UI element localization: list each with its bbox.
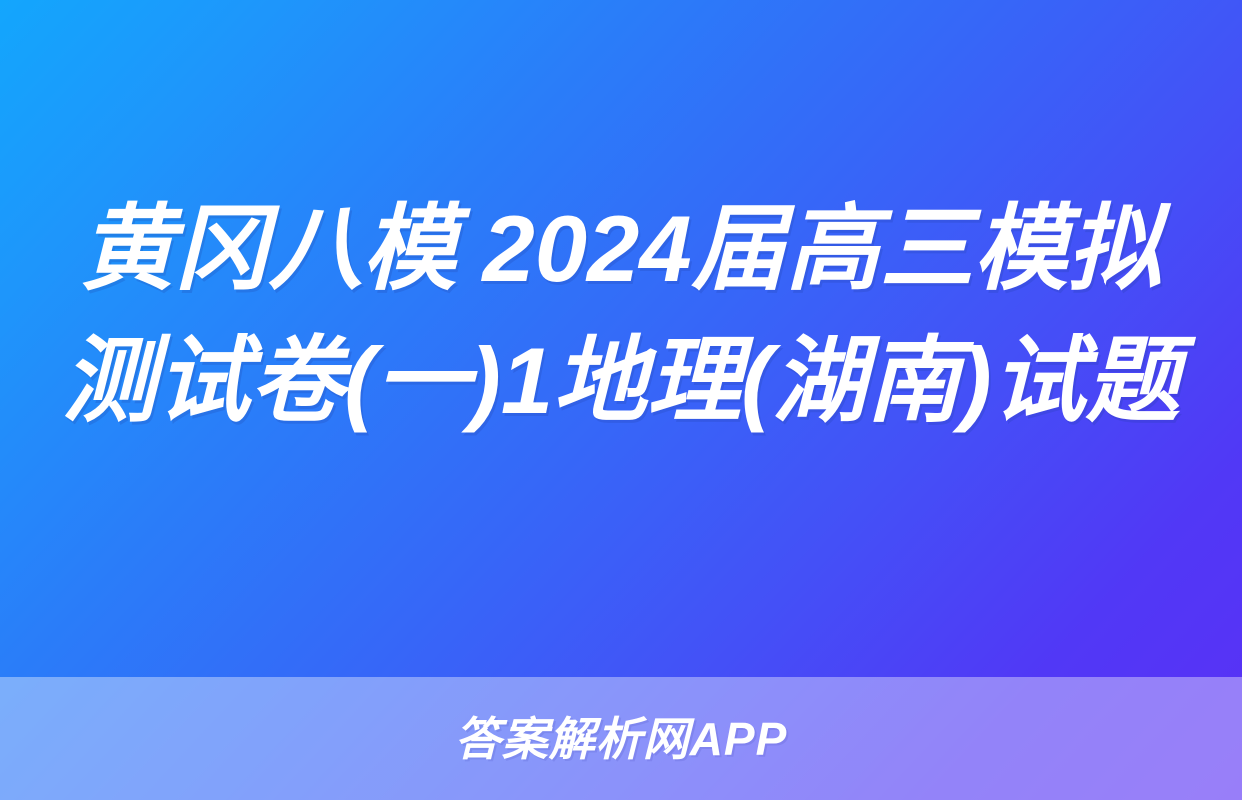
watermark-band: 答案解析网APP bbox=[0, 677, 1242, 800]
title-area: 黄冈八模 2024届高三模拟测试卷(一)1地理(湖南)试题 bbox=[0, 0, 1242, 677]
exam-title-card: 黄冈八模 2024届高三模拟测试卷(一)1地理(湖南)试题 答案解析网APP bbox=[0, 0, 1242, 800]
page-title: 黄冈八模 2024届高三模拟测试卷(一)1地理(湖南)试题 bbox=[58, 183, 1184, 447]
app-watermark-label: 答案解析网APP bbox=[455, 713, 788, 765]
